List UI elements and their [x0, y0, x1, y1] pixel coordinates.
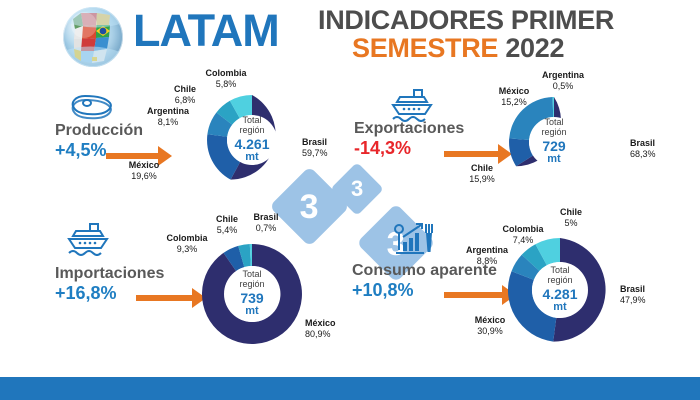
consumo-center-total: Total región 4.281 mt [532, 262, 588, 318]
produccion-total-unit: mt [245, 152, 258, 164]
exportaciones-callout-mexico: México 15,2% [490, 86, 538, 107]
importaciones-callout-chile-value: 5,4% [208, 225, 246, 236]
consumo-total-unit: mt [553, 302, 566, 314]
exportaciones-callout-brasil: Brasil 68,3% [630, 138, 656, 159]
produccion-callout-brasil-value: 59,7% [302, 148, 328, 159]
consumo-callout-chile: Chile 5% [552, 207, 590, 228]
produccion-callout-mexico: México 19,6% [117, 160, 171, 181]
importaciones-callout-brasil: Brasil 0,7% [246, 212, 286, 233]
page-title-line2: SEMESTRE 2022 [352, 34, 564, 63]
importaciones-total-value: 739 [240, 291, 263, 306]
page-title-semestre: SEMESTRE [352, 33, 498, 63]
consumo-callout-brasil-value: 47,9% [620, 295, 646, 306]
produccion-callout-argentina-name: Argentina [139, 106, 197, 117]
importaciones-callout-brasil-name: Brasil [246, 212, 286, 223]
infographic-canvas: LATAM INDICADORES PRIMER SEMESTRE 2022 3… [0, 0, 700, 400]
exportaciones-callout-chile-value: 15,9% [462, 174, 502, 185]
consumo-callout-brasil-name: Brasil [620, 284, 646, 295]
exportaciones-arrow-icon [444, 144, 512, 164]
consumo-callout-chile-name: Chile [552, 207, 590, 218]
consumo-callout-colombia-value: 7,4% [496, 235, 550, 246]
produccion-callout-argentina: Argentina 8,1% [139, 106, 197, 127]
logo-diamond-2-label: 3 [351, 178, 363, 200]
exportaciones-center-line2: región [541, 128, 566, 138]
importaciones-arrow-icon [136, 288, 206, 308]
produccion-callout-colombia-name: Colombia [199, 68, 253, 79]
produccion-callout-colombia-value: 5,8% [199, 79, 253, 90]
importaciones-total-unit: mt [245, 306, 258, 318]
exportaciones-callout-argentina-value: 0,5% [534, 81, 592, 92]
page-title-line1: INDICADORES PRIMER [318, 6, 614, 35]
produccion-callout-mexico-value: 19,6% [117, 171, 171, 182]
exportaciones-callout-mexico-value: 15,2% [490, 97, 538, 108]
produccion-callout-mexico-name: México [117, 160, 171, 171]
exportaciones-callout-chile: Chile 15,9% [462, 163, 502, 184]
produccion-callout-chile-value: 6,8% [167, 95, 203, 106]
importaciones-center-total: Total región 739 mt [224, 266, 280, 322]
exportaciones-total-unit: mt [547, 154, 560, 166]
consumo-donut-chart: Total región 4.281 mt [506, 236, 614, 344]
produccion-center-line2: región [239, 126, 264, 136]
consumo-callout-colombia-name: Colombia [496, 224, 550, 235]
importaciones-title: Importaciones [55, 265, 164, 283]
exportaciones-title: Exportaciones [354, 120, 464, 138]
page-title-year: 2022 [505, 33, 564, 63]
exportaciones-total-value: 729 [542, 139, 565, 154]
meat-cut-icon [68, 94, 114, 125]
produccion-callout-brasil: Brasil 59,7% [302, 137, 328, 158]
produccion-title: Producción [55, 122, 143, 140]
importaciones-callout-brasil-value: 0,7% [246, 223, 286, 234]
importaciones-callout-colombia: Colombia 9,3% [160, 233, 214, 254]
produccion-donut-chart: Total región 4.261 mt [206, 94, 298, 186]
consumption-chart-cutlery-icon [392, 220, 438, 265]
importaciones-center-line2: región [239, 280, 264, 290]
exportaciones-center-total: Total región 729 mt [529, 117, 579, 167]
consumo-callout-chile-value: 5% [552, 218, 590, 229]
globe-latam-flags-icon [63, 7, 123, 67]
consumo-callout-mexico: México 30,9% [466, 315, 514, 336]
importaciones-callout-mexico: México 80,9% [305, 318, 336, 339]
consumo-callout-colombia: Colombia 7,4% [496, 224, 550, 245]
consumo-callout-argentina: Argentina 8,8% [458, 245, 516, 266]
exportaciones-callout-brasil-value: 68,3% [630, 149, 656, 160]
consumo-callout-mexico-value: 30,9% [466, 326, 514, 337]
consumo-callout-mexico-name: México [466, 315, 514, 326]
importaciones-callout-mexico-name: México [305, 318, 336, 329]
produccion-callout-argentina-value: 8,1% [139, 117, 197, 128]
produccion-callout-brasil-name: Brasil [302, 137, 328, 148]
exportaciones-donut-chart: Total región 729 mt [508, 96, 600, 188]
importaciones-callout-mexico-value: 80,9% [305, 329, 336, 340]
consumo-callout-brasil: Brasil 47,9% [620, 284, 646, 305]
exportaciones-callout-argentina-name: Argentina [534, 70, 592, 81]
exportaciones-callout-chile-name: Chile [462, 163, 502, 174]
produccion-callout-colombia: Colombia 5,8% [199, 68, 253, 89]
footer-bar [0, 377, 700, 400]
consumo-callout-argentina-value: 8,8% [458, 256, 516, 267]
importaciones-callout-colombia-name: Colombia [160, 233, 214, 244]
consumo-center-line2: región [547, 276, 572, 286]
ship-icon [66, 222, 110, 261]
exportaciones-callout-argentina: Argentina 0,5% [534, 70, 592, 91]
exportaciones-callout-mexico-name: México [490, 86, 538, 97]
importaciones-donut-chart: Total región 739 mt [200, 242, 304, 346]
produccion-center-total: Total región 4.261 mt [227, 115, 277, 165]
logo-diamond-1-label: 3 [300, 189, 319, 223]
brand-title: LATAM [133, 8, 279, 53]
importaciones-callout-chile-name: Chile [208, 214, 246, 225]
produccion-total-value: 4.261 [234, 137, 269, 152]
importaciones-callout-chile: Chile 5,4% [208, 214, 246, 235]
consumo-total-value: 4.281 [542, 287, 577, 302]
exportaciones-callout-brasil-name: Brasil [630, 138, 656, 149]
produccion-callout-chile: Chile 6,8% [167, 84, 203, 105]
produccion-callout-chile-name: Chile [167, 84, 203, 95]
importaciones-callout-colombia-value: 9,3% [160, 244, 214, 255]
consumo-callout-argentina-name: Argentina [458, 245, 516, 256]
